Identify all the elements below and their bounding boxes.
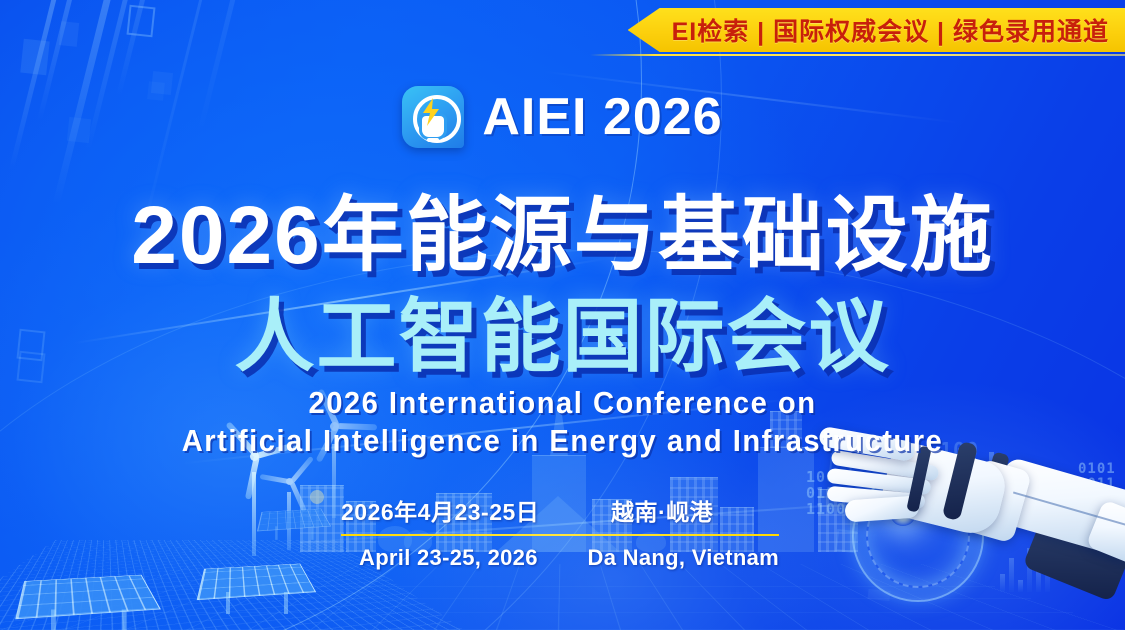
banner-content: AIEI 2026 2026年能源与基础设施 人工智能国际会议 2026 Int…	[0, 0, 1125, 630]
event-info-block: 2026年4月23-25日 越南·岘港 April 23-25, 2026 Da…	[341, 493, 779, 571]
title-cn-line1: 2026年能源与基础设施	[0, 168, 1125, 287]
event-place-cn: 越南·岘港	[593, 493, 779, 527]
event-info-row-cn: 2026年4月23-25日 越南·岘港	[341, 493, 779, 527]
event-place-en: Da Nang, Vietnam	[584, 545, 779, 571]
event-date-en: April 23-25, 2026	[341, 545, 584, 571]
conference-banner: 1001 0110 1100 0101 1011 100 011 010	[0, 0, 1125, 630]
info-divider	[341, 534, 779, 536]
energy-bolt-bulb-logo-icon	[402, 86, 464, 148]
title-en-block: 2026 International Conference on Artific…	[0, 384, 1125, 461]
event-date-cn: 2026年4月23-25日	[341, 493, 593, 527]
title-en-line1: 2026 International Conference on	[34, 384, 1092, 422]
event-info-row-en: April 23-25, 2026 Da Nang, Vietnam	[341, 545, 779, 571]
brand-name: AIEI 2026	[482, 91, 722, 143]
brand-row: AIEI 2026	[0, 86, 1125, 148]
title-en-line2: Artificial Intelligence in Energy and In…	[34, 422, 1092, 460]
title-cn-line2: 人工智能国际会议	[0, 272, 1125, 388]
